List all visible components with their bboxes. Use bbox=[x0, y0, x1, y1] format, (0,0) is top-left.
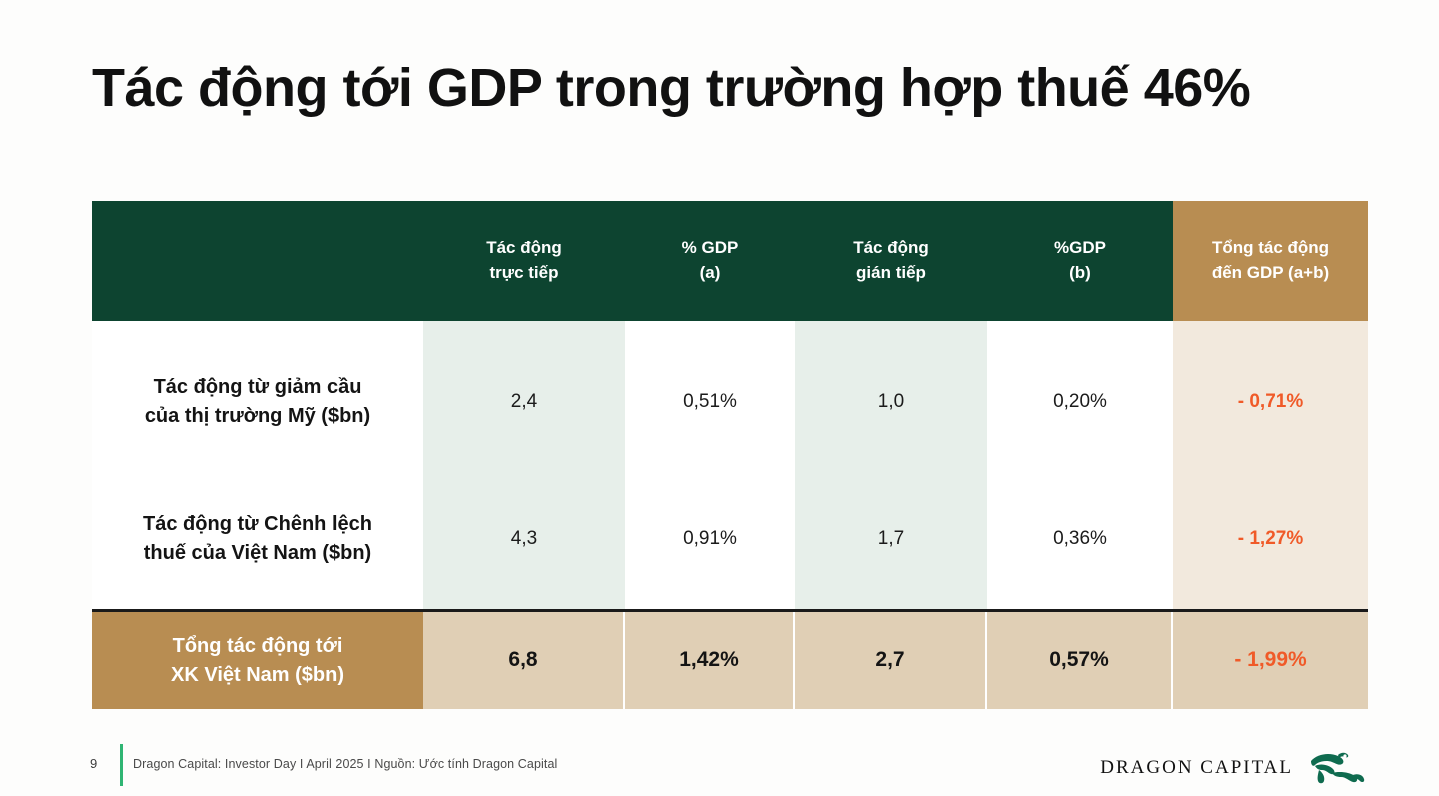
header-line-1: % GDP bbox=[682, 236, 739, 261]
cell-pct-gdp-b: 0,20% bbox=[987, 345, 1173, 458]
table-row: Tác động từ giảm cầu của thị trường Mỹ (… bbox=[92, 345, 1368, 458]
brand-wordmark: DRAGON CAPITAL bbox=[1100, 757, 1293, 779]
header-line-1: Tác động bbox=[853, 236, 929, 261]
gap-cell bbox=[92, 458, 423, 482]
brand-logo: DRAGON CAPITAL bbox=[1100, 751, 1367, 785]
totals-pct-gdp-b: 0,57% bbox=[987, 612, 1173, 709]
cell-pct-gdp-a: 0,51% bbox=[625, 345, 795, 458]
gap-cell bbox=[423, 595, 625, 609]
header-line-2: (b) bbox=[1054, 261, 1106, 286]
gap-cell bbox=[795, 595, 987, 609]
row-label: Tác động từ Chênh lệch thuế của Việt Nam… bbox=[92, 482, 423, 595]
totals-label-line-2: XK Việt Nam ($bn) bbox=[171, 661, 344, 690]
cell-total-gdp: - 0,71% bbox=[1173, 345, 1368, 458]
totals-label-line-1: Tổng tác động tới bbox=[171, 632, 344, 661]
header-line-2: đến GDP (a+b) bbox=[1212, 261, 1329, 286]
cell-indirect-impact: 1,7 bbox=[795, 482, 987, 595]
gap-cell bbox=[625, 321, 795, 345]
totals-total-gdp: - 1,99% bbox=[1173, 612, 1368, 709]
table-gap-strip-top bbox=[92, 321, 1368, 345]
gap-cell bbox=[987, 595, 1173, 609]
cell-pct-gdp-a: 0,91% bbox=[625, 482, 795, 595]
footer-source-note: Dragon Capital: Investor Day I April 202… bbox=[133, 757, 557, 771]
cell-total-gdp: - 1,27% bbox=[1173, 482, 1368, 595]
gap-cell bbox=[1173, 458, 1368, 482]
page-title: Tác động tới GDP trong trường hợp thuế 4… bbox=[92, 57, 1250, 119]
totals-direct-impact: 6,8 bbox=[423, 612, 625, 709]
header-line-2: gián tiếp bbox=[853, 261, 929, 286]
gap-cell bbox=[1173, 595, 1368, 609]
totals-pct-gdp-a: 1,42% bbox=[625, 612, 795, 709]
page-number: 9 bbox=[90, 756, 97, 771]
gap-cell bbox=[987, 321, 1173, 345]
totals-indirect-impact: 2,7 bbox=[795, 612, 987, 709]
gap-cell bbox=[795, 458, 987, 482]
table-row: Tác động từ Chênh lệch thuế của Việt Nam… bbox=[92, 482, 1368, 595]
table-gap-strip-bottom bbox=[92, 595, 1368, 609]
cell-direct-impact: 4,3 bbox=[423, 482, 625, 595]
gap-cell bbox=[423, 458, 625, 482]
dragon-icon bbox=[1305, 751, 1367, 785]
header-cell-rowlabel bbox=[92, 201, 423, 321]
header-cell-direct-impact: Tác động trực tiếp bbox=[423, 201, 625, 321]
table-header-row: Tác động trực tiếp % GDP (a) Tác động gi… bbox=[92, 201, 1368, 321]
impact-table: Tác động trực tiếp % GDP (a) Tác động gi… bbox=[92, 201, 1368, 709]
header-cell-pct-gdp-b: %GDP (b) bbox=[987, 201, 1173, 321]
header-line-1: Tổng tác động bbox=[1212, 236, 1329, 261]
cell-pct-gdp-b: 0,36% bbox=[987, 482, 1173, 595]
table-totals-row: Tổng tác động tới XK Việt Nam ($bn) 6,8 … bbox=[92, 612, 1368, 709]
gap-cell bbox=[795, 321, 987, 345]
totals-label: Tổng tác động tới XK Việt Nam ($bn) bbox=[92, 612, 423, 709]
cell-indirect-impact: 1,0 bbox=[795, 345, 987, 458]
gap-cell bbox=[625, 458, 795, 482]
gap-cell bbox=[625, 595, 795, 609]
slide-canvas: Tác động tới GDP trong trường hợp thuế 4… bbox=[0, 0, 1439, 796]
row-label-line-2: của thị trường Mỹ ($bn) bbox=[145, 402, 370, 431]
footer-divider bbox=[120, 744, 123, 786]
row-label-line-1: Tác động từ giảm cầu bbox=[145, 373, 370, 402]
table-gap-strip-mid bbox=[92, 458, 1368, 482]
gap-cell bbox=[92, 321, 423, 345]
header-line-2: trực tiếp bbox=[486, 261, 562, 286]
row-label-line-2: thuế của Việt Nam ($bn) bbox=[143, 539, 372, 568]
gap-cell bbox=[1173, 321, 1368, 345]
header-cell-total-gdp: Tổng tác động đến GDP (a+b) bbox=[1173, 201, 1368, 321]
header-cell-pct-gdp-a: % GDP (a) bbox=[625, 201, 795, 321]
header-line-1: Tác động bbox=[486, 236, 562, 261]
gap-cell bbox=[423, 321, 625, 345]
row-label-line-1: Tác động từ Chênh lệch bbox=[143, 510, 372, 539]
row-label: Tác động từ giảm cầu của thị trường Mỹ (… bbox=[92, 345, 423, 458]
gap-cell bbox=[92, 595, 423, 609]
header-line-1: %GDP bbox=[1054, 236, 1106, 261]
gap-cell bbox=[987, 458, 1173, 482]
header-cell-indirect-impact: Tác động gián tiếp bbox=[795, 201, 987, 321]
header-line-2: (a) bbox=[682, 261, 739, 286]
cell-direct-impact: 2,4 bbox=[423, 345, 625, 458]
